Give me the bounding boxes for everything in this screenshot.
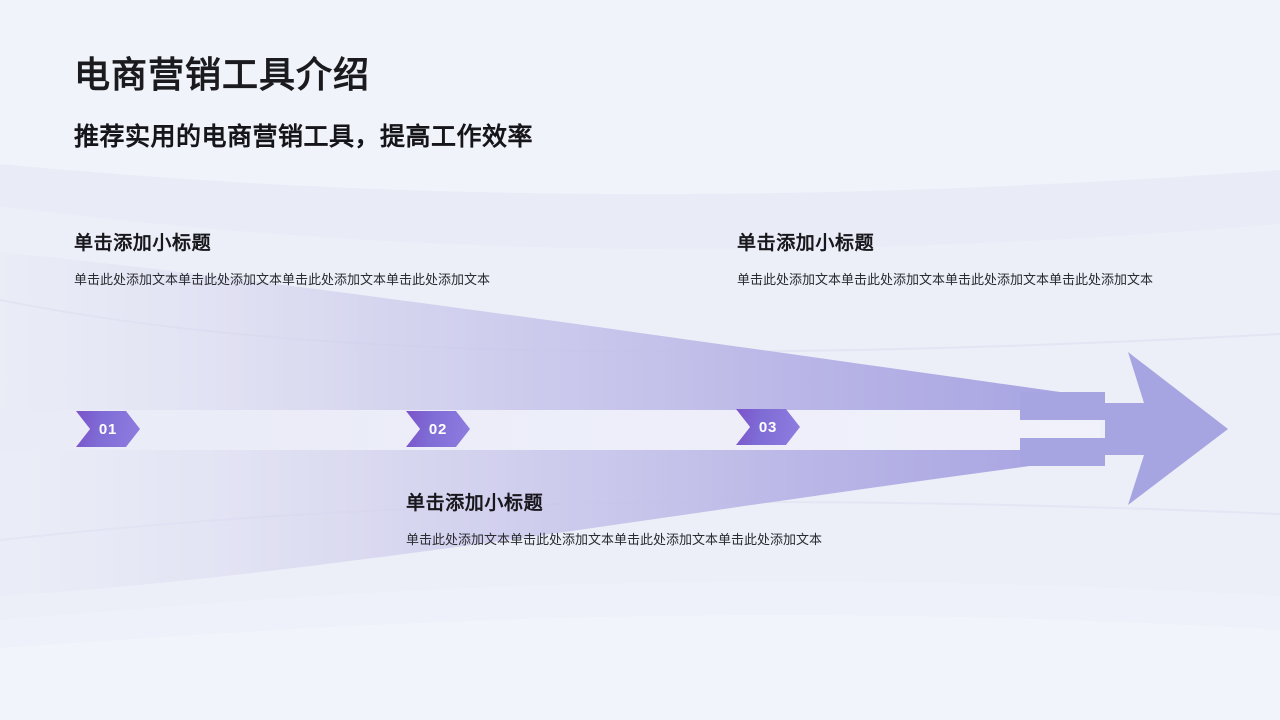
content-block-2-body: 单击此处添加文本单击此处添加文本单击此处添加文本单击此处添加文本: [737, 269, 1207, 292]
content-block-2[interactable]: 单击添加小标题 单击此处添加文本单击此处添加文本单击此处添加文本单击此处添加文本: [737, 228, 1207, 292]
slide-header: 电商营销工具介绍 推荐实用的电商营销工具，提高工作效率: [74, 52, 894, 154]
page-subtitle: 推荐实用的电商营销工具，提高工作效率: [74, 121, 894, 154]
content-block-3-heading: 单击添加小标题: [406, 488, 876, 515]
page-title: 电商营销工具介绍: [74, 52, 894, 97]
content-block-3-body: 单击此处添加文本单击此处添加文本单击此处添加文本单击此处添加文本: [406, 529, 876, 552]
slide-canvas: 电商营销工具介绍 推荐实用的电商营销工具，提高工作效率 单击添加小标题 单击此处…: [0, 0, 1280, 720]
content-block-1[interactable]: 单击添加小标题 单击此处添加文本单击此处添加文本单击此处添加文本单击此处添加文本: [74, 228, 544, 292]
content-block-1-heading: 单击添加小标题: [74, 228, 544, 255]
content-block-1-body: 单击此处添加文本单击此处添加文本单击此处添加文本单击此处添加文本: [74, 269, 544, 292]
content-block-3[interactable]: 单击添加小标题 单击此处添加文本单击此处添加文本单击此处添加文本单击此处添加文本: [406, 488, 876, 552]
content-block-2-heading: 单击添加小标题: [737, 228, 1207, 255]
